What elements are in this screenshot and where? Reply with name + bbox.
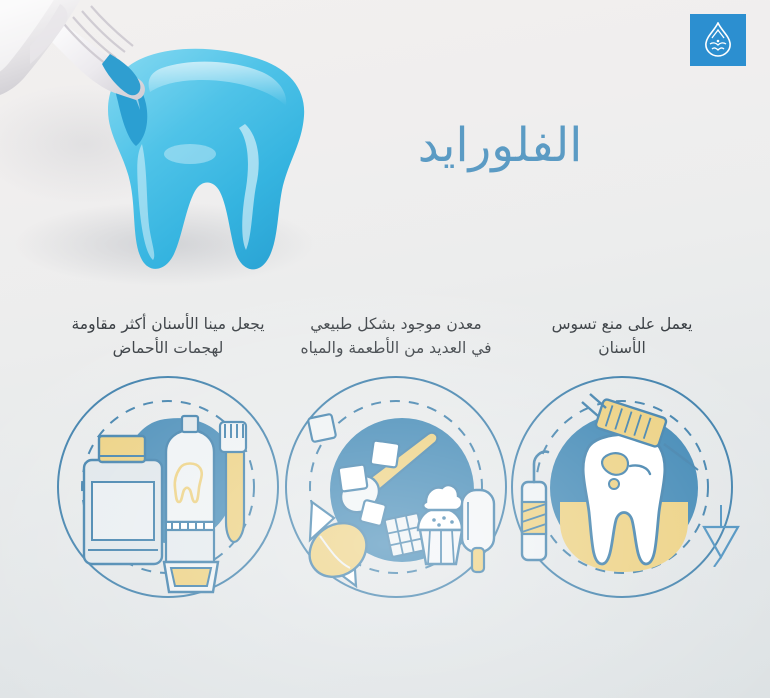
mouthwash-toothpaste-toothbrush-icon — [48, 372, 288, 607]
toothpaste-tube-icon — [166, 416, 214, 562]
dental-probe-icon — [522, 452, 548, 560]
ice-cream-bar-icon — [462, 490, 494, 572]
decayed-tooth-dental-tools-icon — [502, 372, 742, 607]
page-title: الفلورايد — [375, 118, 625, 173]
toothpaste-tooth-photo — [0, 0, 360, 294]
sweets-and-sugar-icon — [276, 372, 516, 607]
rinse-cup-icon — [164, 562, 218, 592]
al-jazeera-logo[interactable] — [690, 14, 746, 66]
infographic-canvas: الفلورايد يجعل مينا الأسنان أكثر مقاومة … — [0, 0, 770, 698]
info-item-caption: يجعل مينا الأسنان أكثر مقاومة لهجمات الأ… — [48, 312, 288, 360]
info-item-natural-mineral: معدن موجود بشكل طبيعي في العديد من الأطع… — [276, 312, 516, 607]
info-item-caption: معدن موجود بشكل طبيعي في العديد من الأطع… — [276, 312, 516, 360]
triangle-down-marker — [698, 505, 744, 567]
info-item-enamel: يجعل مينا الأسنان أكثر مقاومة لهجمات الأ… — [48, 312, 288, 607]
info-item-caption: يعمل على منع تسوس الأسنان — [502, 312, 742, 360]
al-jazeera-flame-icon — [701, 22, 735, 58]
